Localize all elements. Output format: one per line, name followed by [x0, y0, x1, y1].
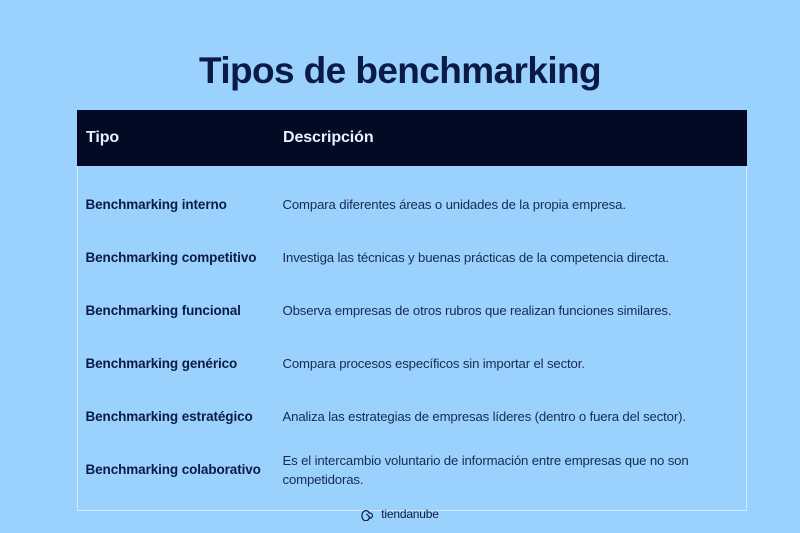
- cell-descripcion: Es el intercambio voluntario de informac…: [281, 451, 746, 489]
- cell-tipo: Benchmarking genérico: [78, 355, 281, 373]
- benchmarking-table: Tipo Descripción Benchmarking interno Co…: [77, 110, 747, 511]
- cloud-icon: [361, 509, 376, 521]
- cell-tipo: Benchmarking estratégico: [78, 408, 281, 426]
- table-row: Benchmarking funcional Observa empresas …: [78, 284, 746, 337]
- cell-tipo: Benchmarking competitivo: [78, 249, 281, 267]
- cell-descripcion: Observa empresas de otros rubros que rea…: [281, 301, 746, 320]
- cell-tipo: Benchmarking colaborativo: [78, 461, 281, 479]
- cell-descripcion: Analiza las estrategias de empresas líde…: [281, 407, 746, 426]
- table-row: Benchmarking estratégico Analiza las est…: [78, 390, 746, 443]
- footer-brand: tiendanube: [0, 508, 800, 521]
- column-header-tipo: Tipo: [77, 128, 280, 148]
- table-row: Benchmarking genérico Compara procesos e…: [78, 337, 746, 390]
- brand-name: tiendanube: [381, 508, 438, 521]
- page-title: Tipos de benchmarking: [0, 50, 800, 92]
- table-row: Benchmarking colaborativo Es el intercam…: [78, 443, 746, 496]
- cell-descripcion: Compara procesos específicos sin importa…: [281, 354, 746, 373]
- table-row: Benchmarking interno Compara diferentes …: [78, 178, 746, 231]
- cell-tipo: Benchmarking interno: [78, 196, 281, 214]
- table-row: Benchmarking competitivo Investiga las t…: [78, 231, 746, 284]
- column-header-descripcion: Descripción: [280, 128, 747, 148]
- table-body: Benchmarking interno Compara diferentes …: [77, 166, 747, 511]
- cell-descripcion: Investiga las técnicas y buenas práctica…: [281, 248, 746, 267]
- infographic-page: Tipos de benchmarking Tipo Descripción B…: [0, 0, 800, 533]
- cell-descripcion: Compara diferentes áreas o unidades de l…: [281, 195, 746, 214]
- table-header-row: Tipo Descripción: [77, 110, 747, 166]
- cell-tipo: Benchmarking funcional: [78, 302, 281, 320]
